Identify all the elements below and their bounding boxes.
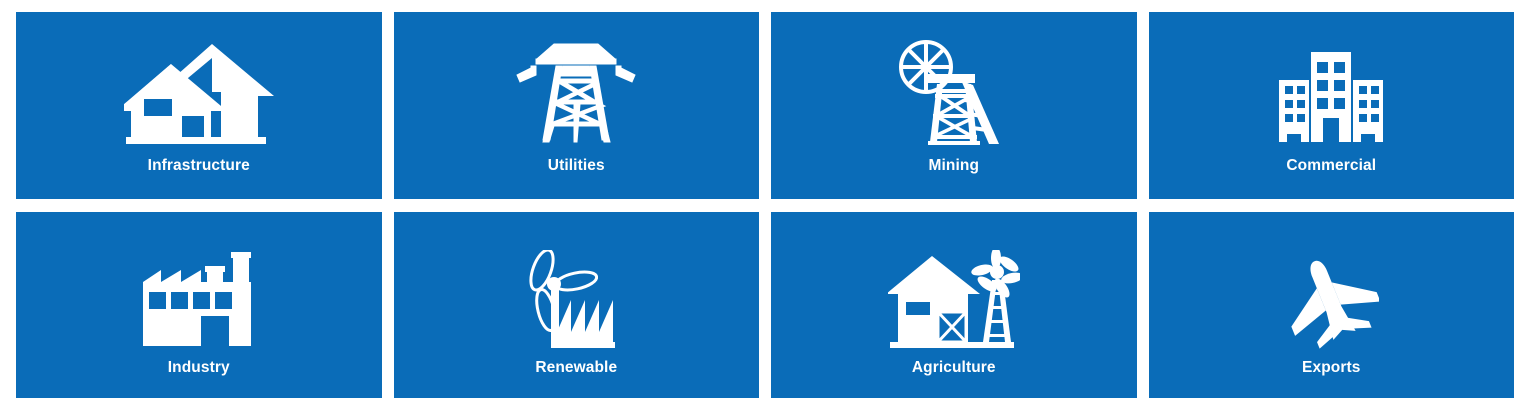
tile-exports[interactable]: Exports xyxy=(1149,212,1515,399)
tile-agriculture[interactable]: Agriculture xyxy=(771,212,1137,399)
tile-label: Industry xyxy=(168,360,230,376)
mine-headframe-icon xyxy=(771,12,1137,146)
tile-industry[interactable]: Industry xyxy=(16,212,382,399)
tile-renewable[interactable]: Renewable xyxy=(394,212,760,399)
house-icon xyxy=(16,12,382,146)
tile-commercial[interactable]: Commercial xyxy=(1149,12,1515,199)
power-pylon-icon xyxy=(394,12,760,146)
tile-label: Commercial xyxy=(1286,158,1376,174)
tile-label: Mining xyxy=(928,158,979,174)
tile-label: Renewable xyxy=(535,360,617,376)
office-buildings-icon xyxy=(1149,12,1515,146)
tile-label: Exports xyxy=(1302,360,1360,376)
airplane-icon xyxy=(1149,212,1515,350)
barn-windmill-icon xyxy=(771,212,1137,350)
wind-turbine-factory-icon xyxy=(394,212,760,350)
sector-tile-grid: Infrastructure xyxy=(16,12,1514,398)
factory-icon xyxy=(16,212,382,350)
tile-infrastructure[interactable]: Infrastructure xyxy=(16,12,382,199)
tile-label: Infrastructure xyxy=(148,158,250,174)
tile-utilities[interactable]: Utilities xyxy=(394,12,760,199)
tile-label: Utilities xyxy=(548,158,605,174)
tile-label: Agriculture xyxy=(912,360,996,376)
tile-mining[interactable]: Mining xyxy=(771,12,1137,199)
